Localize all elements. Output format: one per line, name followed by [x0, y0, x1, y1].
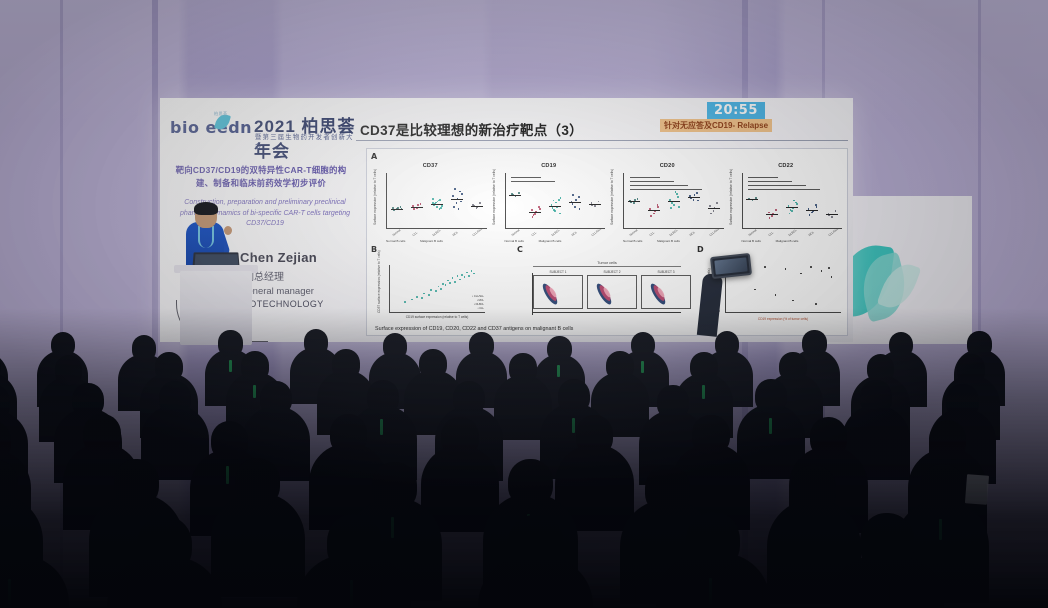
- data-point: [421, 297, 423, 299]
- data-point: [435, 290, 437, 292]
- data-point: [413, 208, 415, 210]
- significance-bracket: [748, 177, 778, 178]
- flow-plot-label: SUBJECT 3: [641, 270, 691, 274]
- data-point: [637, 198, 639, 200]
- data-point: [473, 273, 475, 275]
- panel-c-flow: Tumor cells SUBJECT 1SUBJECT 2SUBJECT 3: [523, 261, 691, 309]
- data-point: [831, 276, 833, 278]
- speaker-hand: [224, 226, 232, 235]
- data-point: [575, 199, 577, 201]
- x-tick-label: DLBCL: [787, 228, 797, 237]
- significance-bracket: [511, 181, 555, 182]
- significance-bracket: [748, 189, 820, 190]
- data-point: [436, 206, 438, 208]
- median-bar: [826, 214, 838, 215]
- chart-title: CD37: [373, 163, 488, 169]
- data-point: [531, 209, 533, 211]
- panel-b-scatter: • CLL• DLBCL• MCL• CLL/SLL: [389, 265, 485, 313]
- x-group-label-right: Malignant B cells: [657, 239, 680, 243]
- data-point: [441, 205, 443, 207]
- x-tick-label: CLL: [530, 231, 537, 237]
- data-point: [471, 270, 473, 272]
- data-point: [560, 197, 562, 199]
- data-point: [710, 213, 712, 215]
- median-bar: [766, 214, 778, 215]
- flow-plot-box: [533, 275, 583, 309]
- data-point: [709, 205, 711, 207]
- data-point: [697, 200, 699, 202]
- data-point: [404, 301, 406, 303]
- significance-bracket: [630, 177, 660, 178]
- data-point: [716, 202, 718, 204]
- data-point: [835, 210, 837, 212]
- data-point: [416, 296, 418, 298]
- median-bar: [509, 195, 521, 196]
- event-subtitle-cn: 暨第三届生物药开发者创新大会: [255, 132, 360, 150]
- data-point: [764, 266, 766, 268]
- flow-plot-label: SUBJECT 1: [533, 270, 583, 274]
- data-point: [811, 212, 813, 214]
- median-bar: [688, 197, 700, 198]
- data-point: [432, 198, 434, 200]
- data-point: [816, 206, 818, 208]
- data-point: [423, 293, 425, 295]
- data-point: [598, 201, 600, 203]
- data-point: [445, 284, 447, 286]
- data-point: [768, 212, 770, 214]
- data-point: [534, 213, 536, 215]
- x-tick-label: DLBCL: [432, 228, 442, 237]
- data-point: [775, 209, 777, 211]
- x-group-label-right: Malignant B cells: [776, 239, 799, 243]
- data-point: [821, 270, 823, 272]
- chart-title: CD19: [492, 163, 607, 169]
- flow-plot: SUBJECT 2: [587, 270, 637, 309]
- data-point: [461, 274, 463, 276]
- speaker-hair: [194, 202, 218, 215]
- x-tick-label: CLL: [767, 231, 774, 237]
- legend-entry: • CLL/SLL: [472, 295, 484, 298]
- data-point: [791, 210, 793, 212]
- significance-bracket: [630, 189, 702, 190]
- data-point: [420, 203, 422, 205]
- data-point: [815, 303, 817, 305]
- data-point: [457, 275, 459, 277]
- significance-bracket: [748, 181, 792, 182]
- flow-plot: SUBJECT 1: [533, 270, 583, 309]
- data-point: [460, 201, 462, 203]
- data-point: [439, 199, 441, 201]
- data-point: [657, 206, 659, 208]
- median-bar: [746, 199, 758, 200]
- data-point: [828, 267, 830, 269]
- data-point: [790, 209, 792, 211]
- chart-ylabel: Surface expression (relative to T cells): [492, 216, 496, 225]
- data-point: [789, 213, 791, 215]
- x-axis-labels: NormalCLLDLBCLMCLCLL/SLLNormal B cellsMa…: [505, 230, 606, 243]
- data-point: [792, 300, 794, 302]
- x-tick-label: Normal: [510, 228, 520, 237]
- data-point: [671, 202, 673, 204]
- x-tick-label: Normal: [629, 228, 639, 237]
- data-point: [440, 288, 442, 290]
- x-axis-labels: NormalCLLDLBCLMCLCLL/SLLNormal B cellsMa…: [386, 230, 487, 243]
- data-point: [458, 208, 460, 210]
- x-group-label-left: Normal B cells: [505, 239, 524, 243]
- significance-bracket: [630, 185, 688, 186]
- data-point: [775, 294, 777, 296]
- data-point: [831, 216, 833, 218]
- median-bar: [569, 202, 581, 203]
- x-tick-label: DLBCL: [550, 228, 560, 237]
- data-point: [464, 276, 466, 278]
- data-point: [796, 203, 798, 205]
- median-bar: [648, 210, 660, 211]
- data-point: [539, 208, 541, 210]
- data-point: [553, 209, 555, 211]
- chart-ylabel: Surface expression (relative to T cells): [610, 216, 614, 225]
- data-point: [809, 214, 811, 216]
- data-point: [442, 283, 444, 285]
- data-point: [572, 194, 574, 196]
- data-point: [810, 266, 812, 268]
- panel-letter-a: A: [371, 152, 377, 161]
- data-point: [461, 193, 463, 195]
- data-point: [428, 294, 430, 296]
- session-timer: 20:55: [707, 102, 765, 119]
- median-bar: [589, 204, 601, 205]
- plot-area: [623, 173, 724, 229]
- data-point: [479, 202, 481, 204]
- data-point: [452, 195, 454, 197]
- flow-plot-label: SUBJECT 2: [587, 270, 637, 274]
- audience-shadow-gradient: [0, 308, 1048, 608]
- plot-area: [742, 173, 843, 229]
- x-group-label-left: Normal B cells: [742, 239, 761, 243]
- median-bar: [628, 201, 640, 202]
- brand-wordmark: bio eedn: [170, 118, 252, 137]
- x-tick-label: MCL: [452, 230, 459, 237]
- data-point: [439, 208, 441, 210]
- conference-photo-scene: bio eedn 柏思荟 2021 柏思荟年会 暨第三届生物药开发者创新大会 C…: [0, 0, 1048, 608]
- brand-sub-mark: 柏思荟: [214, 111, 227, 117]
- data-point: [579, 208, 581, 210]
- data-point: [454, 188, 456, 190]
- median-bar: [451, 199, 463, 200]
- data-point: [468, 275, 470, 277]
- x-tick-label: MCL: [570, 230, 577, 237]
- median-bar: [708, 208, 720, 209]
- data-point: [769, 217, 771, 219]
- data-point: [559, 213, 561, 215]
- data-point: [694, 194, 696, 196]
- significance-bracket: [748, 185, 806, 186]
- data-point: [466, 272, 468, 274]
- median-bar: [431, 204, 443, 205]
- data-point: [713, 210, 715, 212]
- title-divider: [356, 140, 848, 141]
- data-point: [785, 268, 787, 270]
- x-group-label-right: Malignant B cells: [539, 239, 562, 243]
- data-point: [574, 206, 576, 208]
- median-bar: [411, 207, 423, 208]
- data-point: [670, 207, 672, 209]
- data-point: [555, 202, 557, 204]
- data-point: [430, 289, 432, 291]
- x-group-label-right: Malignant B cells: [420, 239, 443, 243]
- median-bar: [806, 210, 818, 211]
- data-point: [456, 202, 458, 204]
- significance-bracket: [511, 177, 541, 178]
- data-point: [411, 299, 413, 301]
- x-group-label-left: Normal B cells: [623, 239, 642, 243]
- x-axis-labels: NormalCLLDLBCLMCLCLL/SLLNormal B cellsMa…: [623, 230, 724, 243]
- data-point: [454, 281, 456, 283]
- data-point: [754, 289, 756, 291]
- data-point: [558, 199, 560, 201]
- data-point: [416, 207, 418, 209]
- data-point: [633, 202, 635, 204]
- data-point: [594, 205, 596, 207]
- data-point: [556, 206, 558, 208]
- median-bar: [391, 209, 403, 210]
- data-point: [653, 213, 655, 215]
- data-point: [676, 193, 678, 195]
- data-point: [578, 196, 580, 198]
- data-point: [630, 202, 632, 204]
- data-point: [459, 279, 461, 281]
- data-point: [650, 215, 652, 217]
- data-point: [678, 206, 680, 208]
- chart-ylabel: Surface expression (relative to T cells): [729, 216, 733, 225]
- x-tick-label: CLL: [412, 231, 419, 237]
- plot-area: [505, 173, 606, 229]
- data-point: [673, 204, 675, 206]
- data-point: [553, 200, 555, 202]
- recording-phone: [710, 253, 752, 279]
- scatter-chart-cd37: CD37Surface expression (relative to T ce…: [373, 163, 488, 243]
- x-tick-label: Normal: [747, 228, 757, 237]
- panel-b-ylabel: CD37 surface expression (relative to T c…: [377, 265, 381, 313]
- slide-title: CD37是比较理想的新治疗靶点（3）: [360, 119, 583, 139]
- chart-ylabel: Surface expression (relative to T cells): [373, 216, 377, 225]
- panel-a-charts: CD37Surface expression (relative to T ce…: [373, 163, 843, 243]
- data-point: [800, 273, 802, 275]
- timer-annotation: 针对无应答及CD19- Relapse: [660, 119, 772, 132]
- data-point: [532, 216, 534, 218]
- data-point: [440, 207, 442, 209]
- x-tick-label: Normal: [392, 228, 402, 237]
- median-bar: [471, 206, 483, 207]
- data-point: [693, 199, 695, 201]
- flow-plot-box: [587, 275, 637, 309]
- x-tick-label: DLBCL: [669, 228, 679, 237]
- speaker-lanyard: [198, 226, 214, 248]
- chart-title: CD22: [729, 163, 844, 169]
- scatter-chart-cd20: CD20Surface expression (relative to T ce…: [610, 163, 725, 243]
- data-point: [572, 203, 574, 205]
- median-bar: [549, 206, 561, 207]
- data-point: [677, 196, 679, 198]
- data-point: [771, 215, 773, 217]
- event-logo: bio eedn 柏思荟 2021 柏思荟年会 暨第三届生物药开发者创新大会: [170, 110, 360, 148]
- data-point: [438, 286, 440, 288]
- data-point: [453, 206, 455, 208]
- legend-entry: • DLBCL: [474, 303, 484, 306]
- data-point: [452, 277, 454, 279]
- scatter-chart-cd22: CD22Surface expression (relative to T ce…: [729, 163, 844, 243]
- flow-plot-box: [641, 275, 691, 309]
- presentation-title-cn: 靶向CD37/CD19的双特异性CAR-T细胞的构建、制备和临床前药效学初步评价: [169, 164, 353, 190]
- chart-title: CD20: [610, 163, 725, 169]
- data-point: [459, 191, 461, 193]
- x-tick-label: MCL: [807, 230, 814, 237]
- x-axis-labels: NormalCLLDLBCLMCLCLL/SLLNormal B cellsMa…: [742, 230, 843, 243]
- panel-c-header: Tumor cells: [533, 261, 681, 267]
- x-tick-label: CLL: [649, 231, 656, 237]
- plot-area: [386, 173, 487, 229]
- median-bar: [529, 212, 541, 213]
- data-point: [752, 200, 754, 202]
- x-group-label-left: Normal B cells: [386, 239, 405, 243]
- x-tick-label: MCL: [689, 230, 696, 237]
- significance-bracket: [630, 181, 674, 182]
- data-point: [449, 282, 451, 284]
- median-bar: [668, 201, 680, 202]
- data-point: [696, 192, 698, 194]
- median-bar: [786, 207, 798, 208]
- flow-plot: SUBJECT 3: [641, 270, 691, 309]
- legend-entry: • MCL: [477, 299, 484, 302]
- scatter-chart-cd19: CD19Surface expression (relative to T ce…: [492, 163, 607, 243]
